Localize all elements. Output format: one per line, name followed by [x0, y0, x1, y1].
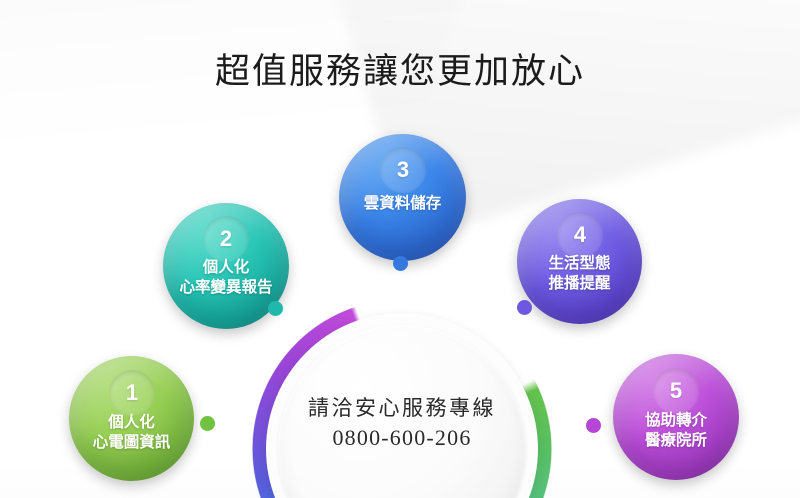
infographic-canvas: 超值服務讓您更加放心 請洽安心服務專線 0800-600-206 1 個人化 心…	[0, 0, 800, 498]
bubble-label-line2: 心電圖資訊	[69, 433, 194, 453]
hub-text-group: 請洽安心服務專線 0800-600-206	[252, 395, 552, 454]
bubble-label-line1: 生活型態	[517, 254, 642, 274]
bubble-label-line2: 推播提醒	[517, 274, 642, 294]
bubble-number-badge-2: 2	[203, 216, 249, 262]
service-hotline-headline: 請洽安心服務專線	[252, 395, 552, 423]
bubble-label-line1: 雲資料儲存	[339, 194, 466, 214]
connector-dot-4	[517, 300, 532, 315]
feature-bubble-4[interactable]: 4 生活型態 推播提醒	[517, 199, 642, 324]
bubble-number-badge-1: 1	[109, 370, 155, 416]
service-hotline-number: 0800-600-206	[252, 423, 552, 454]
bubble-number-badge-3: 3	[380, 147, 426, 193]
bubble-label-5: 協助轉介 醫療院所	[613, 411, 739, 451]
connector-dot-2	[268, 301, 283, 316]
feature-bubble-3[interactable]: 3 雲資料儲存	[339, 134, 466, 261]
bubble-label-line1: 協助轉介	[613, 411, 739, 431]
connector-dot-5	[586, 418, 601, 433]
bubble-label-4: 生活型態 推播提醒	[517, 254, 642, 294]
bubble-label-line1: 個人化	[69, 413, 194, 433]
connector-dot-3	[393, 256, 408, 271]
feature-bubble-5[interactable]: 5 協助轉介 醫療院所	[613, 354, 739, 480]
bubble-number-badge-4: 4	[557, 212, 603, 258]
bubble-label-line2: 醫療院所	[613, 431, 739, 451]
bubble-label-line1: 個人化	[163, 258, 289, 278]
feature-bubble-1[interactable]: 1 個人化 心電圖資訊	[69, 356, 194, 481]
bubble-label-1: 個人化 心電圖資訊	[69, 413, 194, 453]
bubble-number-badge-5: 5	[653, 368, 699, 414]
bubble-label-line2: 心率變異報告	[163, 278, 289, 298]
bubble-label-3: 雲資料儲存	[339, 194, 466, 214]
center-hub: 請洽安心服務專線 0800-600-206	[252, 299, 552, 498]
page-title: 超值服務讓您更加放心	[0, 52, 800, 92]
bubble-label-2: 個人化 心率變異報告	[163, 258, 289, 298]
connector-dot-1	[200, 416, 215, 431]
